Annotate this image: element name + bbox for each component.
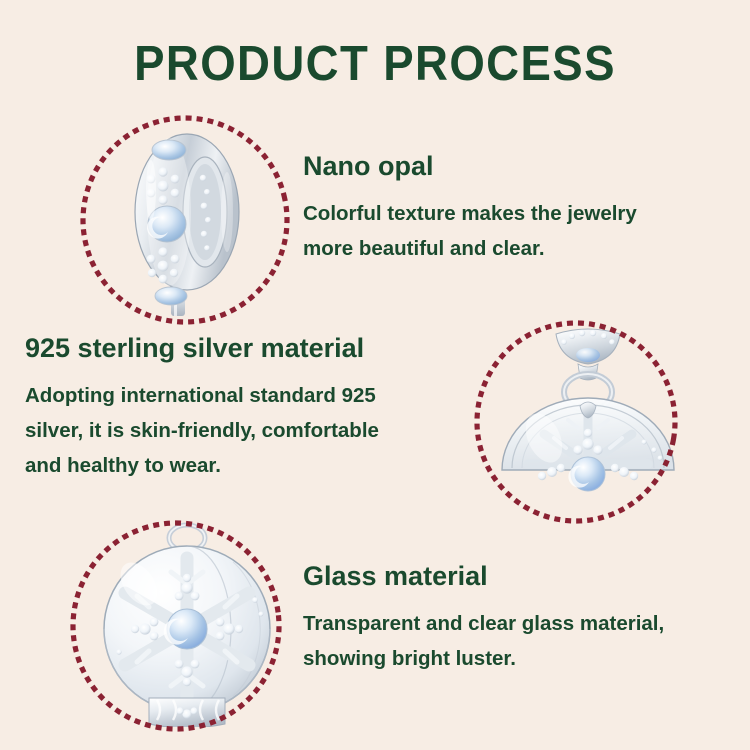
feature-block-glass-material: Glass material Transparent and clear gla… [303, 562, 664, 676]
feature-body-line: more beautiful and clear. [303, 231, 637, 266]
feature-body-nano-opal: Colorful texture makes the jewelry more … [303, 196, 637, 267]
glass-ball-charm-photo [83, 522, 293, 727]
feature-block-sterling-silver: 925 sterling silver material Adopting in… [25, 334, 379, 483]
feature-body-line: Colorful texture makes the jewelry [303, 196, 637, 231]
feature-body-glass-material: Transparent and clear glass material, sh… [303, 606, 664, 677]
feature-heading-sterling-silver: 925 sterling silver material [25, 334, 379, 364]
feature-block-nano-opal: Nano opal Colorful texture makes the jew… [303, 152, 637, 266]
feature-body-line: Transparent and clear glass material, [303, 606, 664, 641]
dangle-dome-charm-photo [488, 322, 688, 522]
page-title: PRODUCT PROCESS [26, 40, 724, 89]
feature-body-line: showing bright luster. [303, 641, 664, 676]
product-process-infographic: PRODUCT PROCESS [0, 0, 750, 750]
feature-body-sterling-silver: Adopting international standard 925 silv… [25, 378, 379, 484]
feature-body-line: and healthy to wear. [25, 448, 379, 483]
spacer-ring-charm-photo [95, 120, 285, 320]
feature-body-line: silver, it is skin-friendly, comfortable [25, 413, 379, 448]
feature-body-line: Adopting international standard 925 [25, 378, 379, 413]
feature-heading-nano-opal: Nano opal [303, 152, 637, 182]
feature-heading-glass-material: Glass material [303, 562, 664, 592]
